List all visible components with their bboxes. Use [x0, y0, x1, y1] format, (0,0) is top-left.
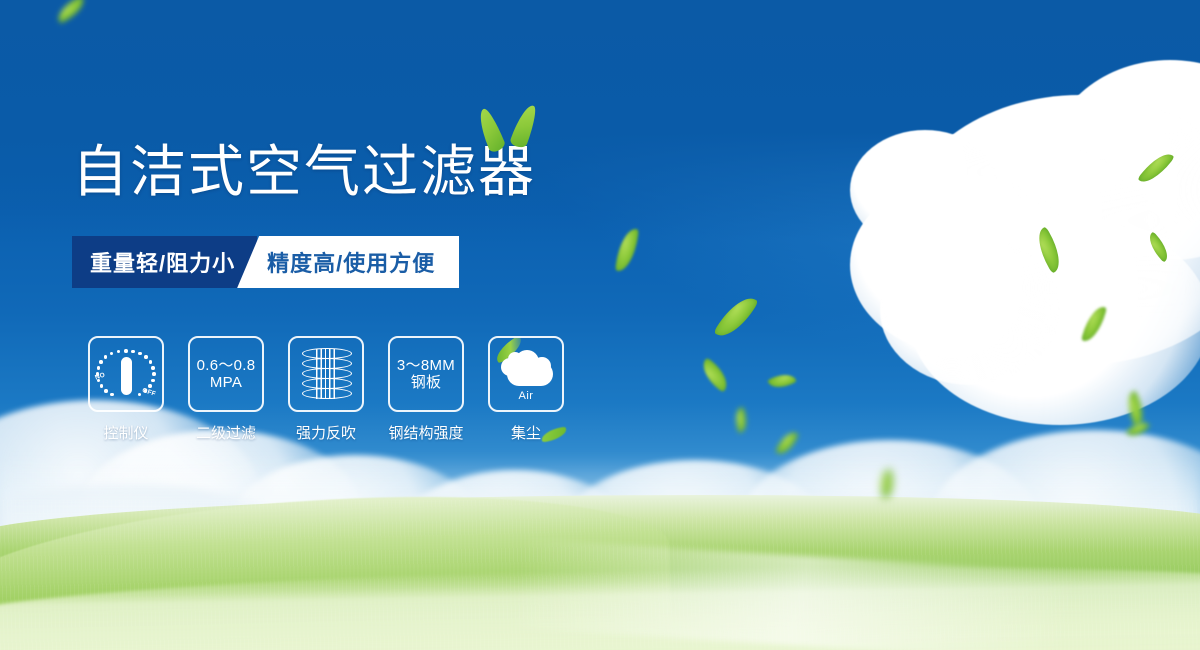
feature-item-steel-strength[interactable]: 3～8MM 钢板 钢结构强度	[376, 336, 476, 443]
air-label: Air	[495, 390, 557, 402]
feature-label: 二级过滤	[196, 422, 256, 443]
sprout-leaves-icon	[470, 102, 550, 154]
subtitle-right-segment: 精度高/使用方便	[237, 236, 459, 288]
subtitle-left-segment: 重量轻/阻力小	[72, 236, 257, 288]
subtitle-bar: 重量轻/阻力小 精度高/使用方便	[72, 236, 459, 288]
feature-item-secondary-filter[interactable]: 0.6～0.8 MPA 二级过滤	[176, 336, 276, 443]
feature-item-dust-collection[interactable]: Air 集尘	[476, 336, 576, 443]
dust-cloud-icon: Air	[495, 348, 557, 400]
sky-top-gradient	[0, 0, 1200, 240]
feature-icon-text-line1: 3～8MM	[397, 357, 455, 374]
sprout-leaf-right-icon	[509, 102, 540, 149]
feature-label-text: 集尘	[511, 425, 541, 442]
feature-label: 强力反吹	[296, 422, 356, 443]
gauge-needle-icon	[121, 357, 132, 395]
airflow-stack-icon	[299, 346, 353, 402]
decorative-leaf-icon	[540, 426, 568, 442]
feature-label: 控制仪	[103, 422, 148, 443]
product-banner: 自洁式空气过滤器 重量轻/阻力小 精度高/使用方便	[0, 0, 1200, 650]
title-block: 自洁式空气过滤器	[72, 144, 536, 200]
feature-icon-box: 0.6～0.8 MPA	[188, 336, 264, 412]
feature-item-control-gauge[interactable]: NO OFF 控制仪	[76, 336, 176, 443]
feature-icon-box: Air	[488, 336, 564, 412]
feature-label: 集尘	[511, 422, 541, 443]
gauge-off-label: OFF	[141, 387, 156, 398]
sprout-leaf-left-icon	[474, 106, 506, 153]
feature-list: NO OFF 控制仪 0.6～0.8 MPA 二级过滤	[76, 336, 576, 443]
feature-icon-text-line1: 0.6～0.8	[197, 357, 256, 374]
cloud-puff-icon	[508, 352, 522, 366]
feature-icon-box: NO OFF	[88, 336, 164, 412]
feature-icon-box: 3～8MM 钢板	[388, 336, 464, 412]
feature-item-strong-blowback[interactable]: 强力反吹	[276, 336, 376, 443]
page-title: 自洁式空气过滤器	[72, 144, 536, 200]
gauge-icon: NO OFF	[95, 345, 157, 403]
cloud-puff-icon	[533, 357, 551, 375]
feature-icon-text-line2: 钢板	[411, 374, 442, 391]
feature-label: 钢结构强度	[388, 422, 463, 443]
grass-texture	[0, 500, 1200, 650]
feature-icon-text-line2: MPA	[210, 374, 242, 391]
feature-icon-box	[288, 336, 364, 412]
